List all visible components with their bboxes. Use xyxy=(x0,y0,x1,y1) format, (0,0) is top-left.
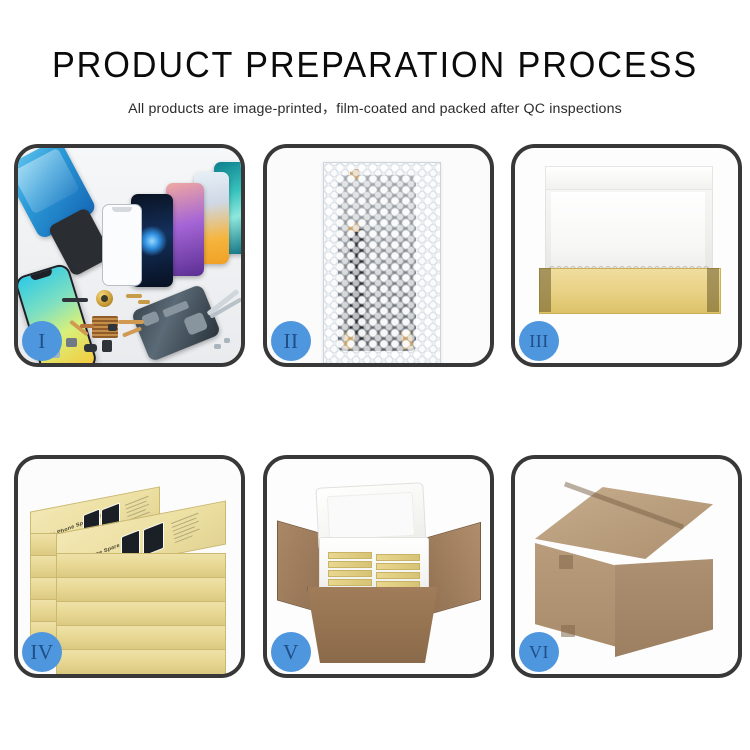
vibration-motor-icon xyxy=(96,290,113,307)
box-back-wall-icon xyxy=(545,166,713,272)
carton-top-face-icon xyxy=(535,487,713,559)
step-badge-5: V xyxy=(271,632,311,672)
carton-tape-icon xyxy=(561,625,575,637)
flex-cable-icon xyxy=(118,320,144,324)
yellow-box-body-icon xyxy=(539,268,721,314)
process-step-1[interactable]: I xyxy=(14,144,245,367)
screw-icon xyxy=(224,338,230,343)
phone-chassis-icon xyxy=(47,207,112,277)
blue-lcd-panel-icon xyxy=(18,148,98,240)
phone-backplate-icon xyxy=(131,284,222,363)
gold-connector-icon xyxy=(138,300,150,304)
phone-purple-icon xyxy=(166,183,204,276)
process-grid: I II xyxy=(14,144,736,684)
box-stack-front-icon: Mobile Phone Spare Parts xyxy=(56,517,224,671)
process-step-2[interactable]: II xyxy=(263,144,494,367)
phone-orange-icon xyxy=(194,172,229,264)
earpiece-speaker-icon xyxy=(62,298,88,302)
box-brand-text: Mobile Phone Spare Parts xyxy=(37,511,108,544)
bubble-wrap-bag-icon xyxy=(323,162,441,363)
tweezers-icon xyxy=(206,289,239,316)
carton-front-face-icon xyxy=(535,543,617,647)
tape-icon xyxy=(350,169,359,179)
phone-teal-icon xyxy=(214,162,241,254)
box-end-shadow xyxy=(539,268,551,312)
page-title: PRODUCT PREPARATION PROCESS xyxy=(19,44,732,86)
step-badge-3: III xyxy=(519,321,559,361)
flex-cable-icon xyxy=(122,326,142,337)
process-step-3[interactable]: III xyxy=(511,144,742,367)
carton-flap-right-icon xyxy=(417,522,481,618)
box-lid-printed-icon: Mobile Phone Spare Parts xyxy=(56,500,226,577)
antenna-strip-icon xyxy=(80,324,94,328)
step-badge-1: I xyxy=(22,321,62,361)
carton-flap-left-icon xyxy=(277,520,337,617)
header: PRODUCT PREPARATION PROCESS All products… xyxy=(0,0,750,118)
page-root: PRODUCT PREPARATION PROCESS All products… xyxy=(0,0,750,750)
tape-icon xyxy=(343,332,356,349)
tape-icon xyxy=(348,223,359,232)
lcd-screen-icon xyxy=(338,175,416,351)
bubble-texture xyxy=(324,163,440,363)
copper-contact-pad-icon xyxy=(92,316,118,338)
small-chip-icon xyxy=(66,338,77,347)
carton-tape-icon xyxy=(559,555,573,569)
foam-lid-icon xyxy=(315,482,426,552)
bubble-texture xyxy=(324,163,440,363)
camera-module-icon xyxy=(84,344,97,352)
screw-icon xyxy=(214,344,221,349)
box-stack-back-icon: Mobile Phone Spare Parts xyxy=(30,499,158,649)
flex-cable-icon xyxy=(69,320,89,337)
tape-icon xyxy=(401,330,413,349)
grey-antistatic-foam-icon xyxy=(549,266,709,290)
tempered-glass-icon xyxy=(102,204,142,286)
carton-body-icon xyxy=(307,587,438,663)
carton-side-face-icon xyxy=(615,559,713,657)
white-foam-sheet-icon xyxy=(551,192,705,270)
ic-chip-icon xyxy=(108,324,117,331)
box-lid-printed-icon: Mobile Phone Spare Parts xyxy=(30,486,160,553)
process-step-5[interactable]: V xyxy=(263,455,494,678)
step-badge-4: IV xyxy=(22,632,62,672)
speaker-module-icon xyxy=(102,340,112,352)
tweezers-icon xyxy=(209,297,241,318)
box-lid-icon xyxy=(545,166,713,190)
foam-insert-icon xyxy=(319,537,429,595)
step-badge-2: II xyxy=(271,321,311,361)
phone-dark-icon xyxy=(131,194,173,287)
page-subtitle: All products are image-printed，film-coat… xyxy=(0,98,750,118)
carton-seam-icon xyxy=(564,482,684,530)
step-badge-6: VI xyxy=(519,632,559,672)
box-end-shadow xyxy=(707,268,719,312)
process-step-6[interactable]: VI xyxy=(511,455,742,678)
gold-connector-icon xyxy=(126,294,142,298)
box-brand-text: Mobile Phone Spare Parts xyxy=(65,536,136,569)
lcd-flex-cable-icon xyxy=(350,229,366,341)
process-step-4[interactable]: Mobile Phone Spare Parts xyxy=(14,455,245,678)
